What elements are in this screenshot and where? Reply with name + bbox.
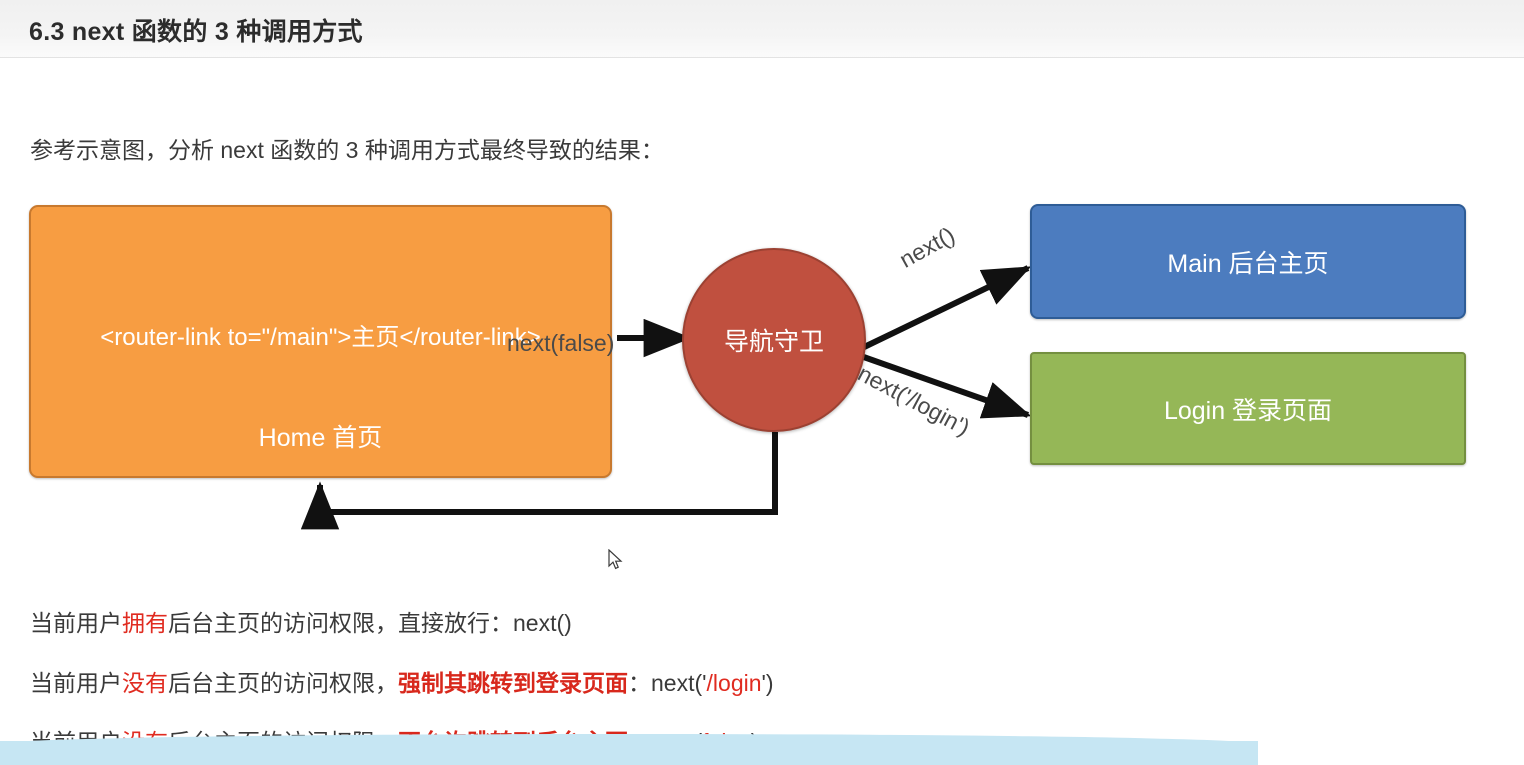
node-main[interactable]: Main 后台主页 [1030, 204, 1466, 319]
statement-segment: 没有 [122, 670, 168, 696]
node-home-caption: Home 首页 [259, 418, 383, 454]
node-home-code: <router-link to="/main">主页</router-link> [100, 326, 541, 350]
statement-segment: 当前用户 [30, 610, 122, 636]
statement-segment: 当前用户 [30, 670, 122, 696]
statement-allow: 当前用户拥有后台主页的访问权限，直接放行：next() [30, 604, 572, 638]
edge-guard-to-main [858, 268, 1028, 350]
statement-segment: 强制其跳转到登录页面 [398, 670, 628, 696]
flow-diagram: <router-link to="/main">主页</router-link>… [0, 190, 1524, 560]
node-login-label: Login 登录页面 [1164, 391, 1332, 427]
node-navigation-guard[interactable]: 导航守卫 [682, 248, 866, 432]
statement-segment: ：next(' [628, 670, 707, 696]
statement-segment: 后台主页的访问权限， [168, 670, 398, 696]
mouse-cursor-icon [608, 549, 624, 571]
node-main-label: Main 后台主页 [1167, 244, 1328, 280]
page-title: 6.3 next 函数的 3 种调用方式 [29, 12, 363, 48]
statement-segment: ') [762, 670, 774, 696]
edge-label-next-false: next(false) [507, 330, 614, 357]
statement-segment: 后台主页的访问权限，直接放行： [168, 610, 513, 636]
node-login[interactable]: Login 登录页面 [1030, 352, 1466, 465]
statement-segment: 拥有 [122, 610, 168, 636]
statement-redirect-login: 当前用户没有后台主页的访问权限，强制其跳转到登录页面：next('/login'… [30, 664, 774, 698]
node-navigation-guard-label: 导航守卫 [724, 322, 824, 358]
highlight-band [0, 741, 1258, 765]
statement-segment: /login [707, 670, 762, 696]
statement-segment: next() [513, 610, 572, 636]
intro-paragraph: 参考示意图，分析 next 函数的 3 种调用方式最终导致的结果： [30, 131, 664, 165]
